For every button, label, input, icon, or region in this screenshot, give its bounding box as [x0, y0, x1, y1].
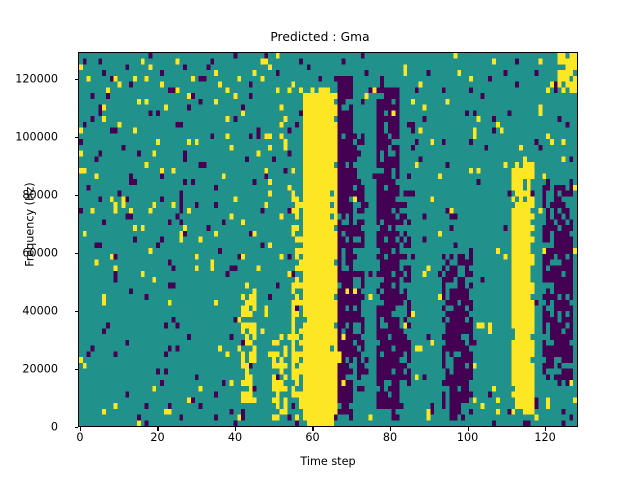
y-tick-label: 0: [0, 421, 58, 432]
y-tick-mark: [75, 137, 79, 138]
x-tick-mark: [80, 427, 81, 431]
y-tick-label: 20000: [0, 363, 58, 374]
y-tick-label: 40000: [0, 305, 58, 316]
heatmap-axes: [78, 52, 578, 427]
x-tick-mark: [235, 427, 236, 431]
x-tick-label: 60: [282, 432, 342, 443]
y-tick-label: 120000: [0, 73, 58, 84]
x-axis-label: Time step: [78, 455, 578, 468]
y-tick-mark: [75, 369, 79, 370]
x-tick-mark: [312, 427, 313, 431]
x-tick-label: 120: [515, 432, 575, 443]
y-tick-label: 80000: [0, 189, 58, 200]
x-tick-label: 40: [205, 432, 265, 443]
x-tick-mark: [545, 427, 546, 431]
chart-title: Predicted : Gma: [0, 30, 640, 44]
x-tick-mark: [157, 427, 158, 431]
heatmap-canvas: [79, 53, 577, 426]
y-tick-label: 100000: [0, 131, 58, 142]
x-tick-label: 0: [50, 432, 110, 443]
x-tick-mark: [468, 427, 469, 431]
y-tick-mark: [75, 427, 79, 428]
matplotlib-figure: Predicted : Gma Frequency (Hz) Time step…: [0, 0, 640, 480]
y-tick-label: 60000: [0, 247, 58, 258]
y-tick-mark: [75, 311, 79, 312]
x-tick-label: 20: [127, 432, 187, 443]
x-tick-mark: [390, 427, 391, 431]
y-tick-mark: [75, 253, 79, 254]
x-tick-label: 80: [360, 432, 420, 443]
x-tick-label: 100: [438, 432, 498, 443]
y-tick-mark: [75, 79, 79, 80]
y-tick-mark: [75, 195, 79, 196]
